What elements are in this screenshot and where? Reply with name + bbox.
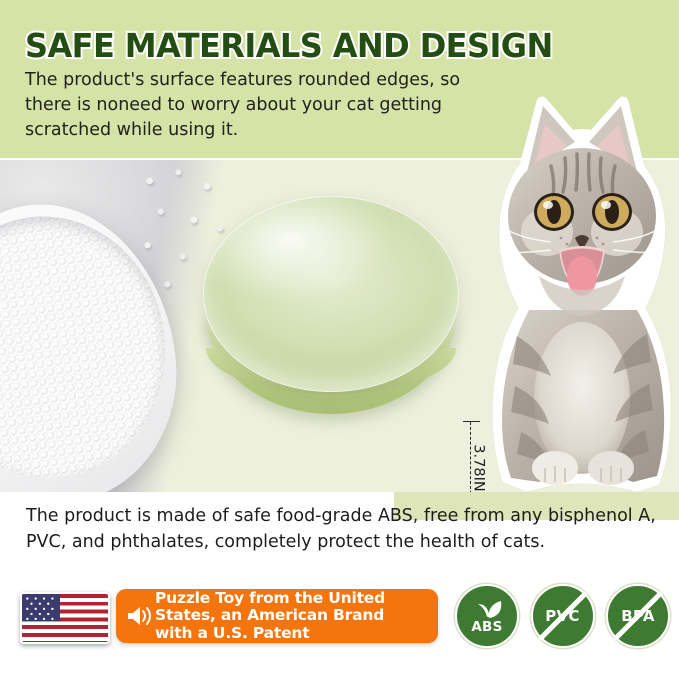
toy-clear-dome [203,196,459,392]
patent-banner-text: Puzzle Toy from the United States, an Am… [155,590,391,643]
flag-canton [22,594,60,621]
page-title: SAFE MATERIALS AND DESIGN [25,26,553,65]
patent-banner-line1: Puzzle Toy from the United [155,590,385,608]
certification-badges: ABS PVC BPA [455,583,670,649]
infographic-page: SAFE MATERIALS AND DESIGN The product's … [0,0,679,679]
patent-banner-line3: with a U.S. Patent [155,625,385,643]
cat-puzzle-toy [203,196,459,421]
united-states-flag-icon [20,592,110,644]
header-subtitle: The product's surface features rounded e… [25,68,485,143]
badge-pvc: PVC [531,584,595,648]
dimension-label-height: 3.78IN [471,444,487,491]
patent-banner: Puzzle Toy from the United States, an Am… [116,589,438,643]
flag-stars [22,594,60,621]
abs-pellets-photo [0,160,232,492]
patent-banner-line2: States, an American Brand [155,607,385,625]
material-description: The product is made of safe food-grade A… [26,504,656,555]
kitten-sticker-outline [487,80,677,492]
badge-abs-label: ABS [471,621,502,635]
kitten-cutout [487,80,677,492]
leaf-icon [472,598,502,618]
speaker-icon [125,603,151,629]
badge-abs: ABS [455,584,519,648]
badge-bpa: BPA [606,584,670,648]
